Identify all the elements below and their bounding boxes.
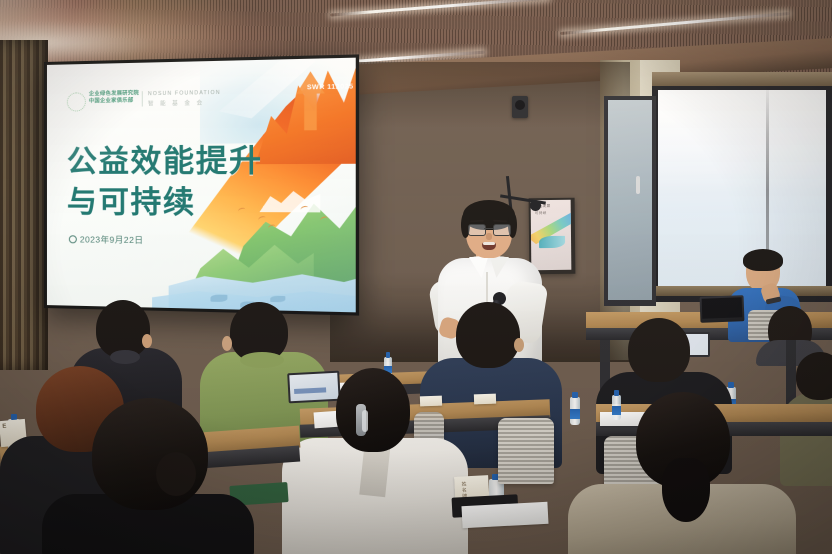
audience-black-bun (52, 398, 242, 554)
window-header-beam (652, 72, 832, 86)
presenter-nose (486, 233, 492, 240)
name-card (474, 394, 496, 405)
camera-lens-icon (515, 100, 525, 110)
paper-sheet (461, 502, 548, 528)
slide-surface: 企业绿色发展研究院中国企业家俱乐部 NOSUN FOUNDATION 智 能 基… (47, 58, 356, 313)
audience-taupe-ponytail (584, 392, 780, 554)
door-handle[interactable] (636, 176, 640, 194)
glass-door-panel[interactable] (608, 100, 652, 300)
wall-camera-icon (512, 96, 528, 118)
audience-white-blazer (300, 368, 446, 554)
wood-slat-wall-left (0, 40, 48, 370)
presentation-room-photo: 企业绿色发展研究院中国企业家俱乐部 NOSUN FOUNDATION 智 能 基… (0, 0, 832, 554)
water-bottle[interactable] (570, 392, 580, 425)
name-card-text: E (2, 424, 7, 430)
presenter-teeth (483, 242, 495, 245)
projection-screen: 企业绿色发展研究院中国企业家俱乐部 NOSUN FOUNDATION 智 能 基… (44, 54, 359, 315)
attendee-hair (743, 249, 783, 271)
mesh-chair[interactable] (498, 418, 554, 484)
screen-glare (47, 58, 356, 313)
